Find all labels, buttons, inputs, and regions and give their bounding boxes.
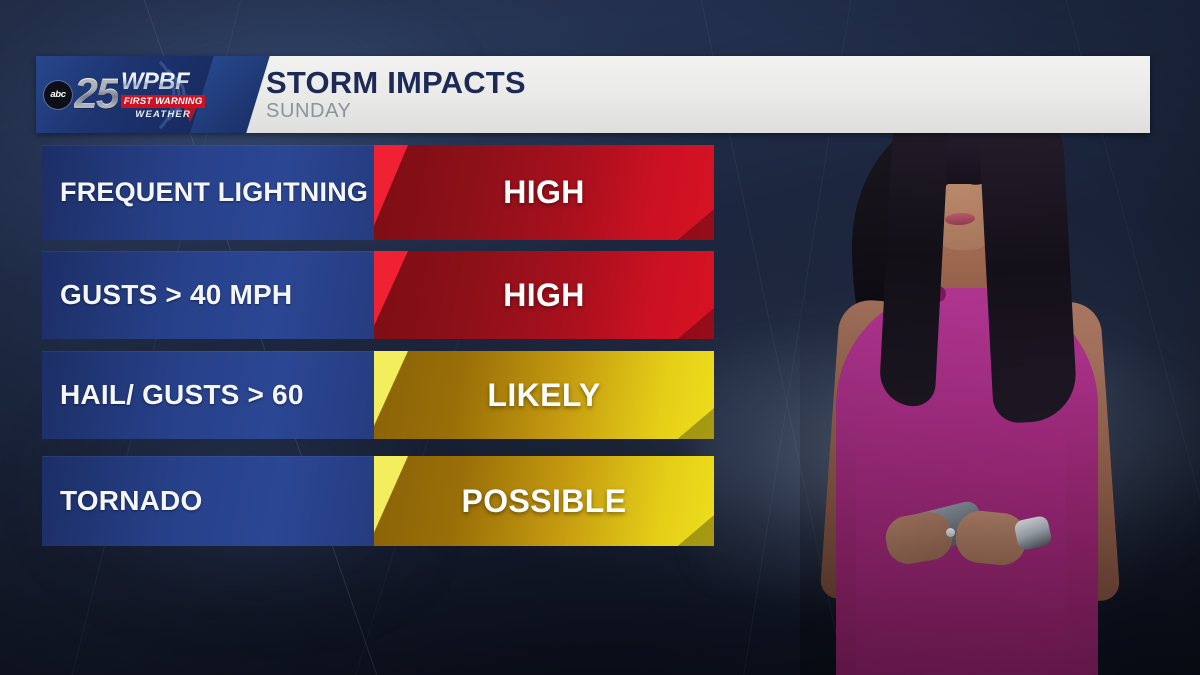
table-row: GUSTS > 40 MPH HIGH (42, 251, 714, 339)
storm-impacts-table: FREQUENT LIGHTNING HIGH GUSTS > 40 MPH H… (42, 145, 714, 546)
hazard-label-text: GUSTS > 40 MPH (60, 280, 292, 310)
header-text-block: STORM IMPACTS SUNDAY (232, 56, 1150, 133)
risk-level-text: HIGH (503, 277, 585, 314)
table-row: HAIL/ GUSTS > 60 LIKELY (42, 351, 714, 439)
corner-notch (674, 512, 714, 546)
hazard-label-text: FREQUENT LIGHTNING (60, 178, 368, 207)
corner-notch (674, 305, 714, 339)
corner-notch (674, 206, 714, 240)
table-row: TORNADO POSSIBLE (42, 456, 714, 546)
risk-level-text: LIKELY (487, 377, 600, 414)
page-subtitle: SUNDAY (266, 100, 1150, 122)
graphic-header-bar: abc 25 WPBF FIRST WARNING WEATHER STORM … (36, 56, 1150, 133)
callsign-text: WPBF (121, 70, 206, 94)
page-title: STORM IMPACTS (266, 67, 1150, 99)
hazard-label-cell: HAIL/ GUSTS > 60 (42, 351, 374, 439)
risk-level-cell: HIGH (374, 251, 714, 339)
hazard-label-cell: TORNADO (42, 456, 374, 546)
station-wordmark: WPBF FIRST WARNING WEATHER (121, 70, 206, 119)
station-logo: abc 25 WPBF FIRST WARNING WEATHER (36, 56, 232, 133)
weather-text: WEATHER (121, 110, 206, 120)
hazard-label-cell: GUSTS > 40 MPH (42, 251, 374, 339)
channel-number: 25 (74, 73, 118, 116)
risk-level-cell: LIKELY (374, 351, 714, 439)
hazard-label-text: TORNADO (60, 486, 202, 516)
risk-level-text: HIGH (503, 174, 585, 211)
risk-level-text: POSSIBLE (461, 483, 626, 520)
ring (946, 528, 955, 537)
hazard-label-cell: FREQUENT LIGHTNING (42, 145, 374, 240)
risk-level-cell: HIGH (374, 145, 714, 240)
first-warning-banner: FIRST WARNING (121, 95, 206, 108)
hazard-label-text: HAIL/ GUSTS > 60 (60, 380, 304, 410)
risk-level-cell: POSSIBLE (374, 456, 714, 546)
abc-network-icon: abc (44, 81, 72, 109)
corner-notch (674, 405, 714, 439)
hair-front-right (978, 110, 1078, 424)
table-row: FREQUENT LIGHTNING HIGH (42, 145, 714, 240)
